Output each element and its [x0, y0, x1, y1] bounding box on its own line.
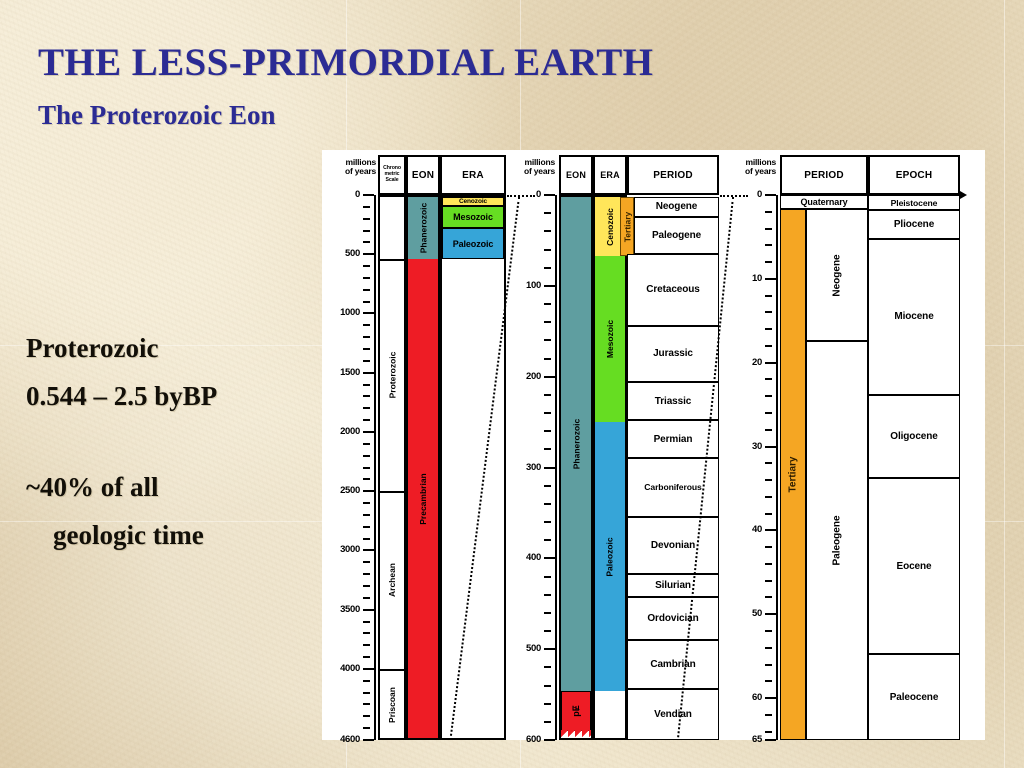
axis-tick-minor: [544, 394, 551, 396]
axis-tick-minor: [363, 384, 370, 386]
axis-tick-major: [363, 668, 374, 670]
axis-tick-minor: [765, 345, 772, 347]
axis-tick-minor: [544, 321, 551, 323]
axis-tick-minor: [765, 630, 772, 632]
axis-tick-major: [363, 431, 374, 433]
axis-tick-minor: [363, 692, 370, 694]
axis-tick-minor: [765, 546, 772, 548]
axis-tick-minor: [765, 412, 772, 414]
panel-3-axis-label: millionsof years: [718, 158, 776, 176]
axis-tick-label: 20: [716, 357, 762, 368]
axis-tick-minor: [544, 212, 551, 214]
period-paleogene-p3: Paleogene: [806, 341, 868, 740]
axis-tick-major: [363, 194, 374, 196]
axis-tick-minor: [765, 664, 772, 666]
axis-tick-minor: [544, 412, 551, 414]
axis-tick-label: 65: [716, 734, 762, 745]
axis-tick-minor: [544, 303, 551, 305]
axis-tick-minor: [544, 685, 551, 687]
axis-tick-major: [544, 467, 555, 469]
geologic-time-scale-chart: millionsof years ChronometricScale EON E…: [322, 150, 985, 740]
period-silurian: Silurian: [627, 574, 719, 598]
axis-tick-label: 500: [314, 248, 360, 259]
period-jurassic: Jurassic: [627, 326, 719, 382]
axis-tick-minor: [544, 448, 551, 450]
era-mesozoic-p1: Mesozoic: [442, 206, 504, 228]
axis-tick-minor: [765, 211, 772, 213]
axis-tick-label: 500: [495, 643, 541, 654]
axis-tick-minor: [363, 336, 370, 338]
axis-tick-major: [544, 739, 555, 741]
axis-tick-minor: [363, 561, 370, 563]
period-devonian: Devonian: [627, 517, 719, 574]
axis-tick-major: [765, 739, 776, 741]
guide-line-vertical: [1004, 0, 1005, 768]
axis-tick-minor: [544, 339, 551, 341]
axis-tick-minor: [363, 727, 370, 729]
epoch-pliocene: Pliocene: [868, 210, 960, 239]
eon-precambrian-flag-p2: pɆ: [561, 691, 591, 731]
axis-tick-label: 1500: [314, 367, 360, 378]
axis-tick-label: 0: [495, 189, 541, 200]
epoch-pleistocene: Pleistocene: [868, 195, 960, 210]
period-quaternary: Quaternary: [780, 195, 868, 209]
epoch-eocene: Eocene: [868, 478, 960, 655]
axis-tick-minor: [363, 715, 370, 717]
period-vendian: Vendian: [627, 689, 719, 740]
axis-tick-minor: [363, 680, 370, 682]
axis-tick-label: 0: [716, 189, 762, 200]
axis-tick-minor: [765, 513, 772, 515]
precambrian-flag-notch: [561, 730, 591, 737]
period-neogene: Neogene: [634, 197, 719, 217]
chronometric-proterozoic: Proterozoic: [378, 259, 406, 491]
axis-tick-minor: [363, 443, 370, 445]
zero-line-arrow: [960, 191, 967, 199]
axis-tick-major: [544, 648, 555, 650]
axis-tick-minor: [363, 621, 370, 623]
period-cretaceous: Cretaceous: [627, 254, 719, 326]
chronometric-divider: [378, 669, 406, 671]
axis-tick-label: 50: [716, 608, 762, 619]
axis-tick-minor: [765, 479, 772, 481]
eon-phanerozoic-p1: Phanerozoic: [408, 197, 438, 259]
axis-tick-label: 4000: [314, 663, 360, 674]
axis-tick-minor: [363, 597, 370, 599]
axis-tick-label: 0: [314, 189, 360, 200]
axis-tick-minor: [765, 295, 772, 297]
axis-tick-major: [544, 285, 555, 287]
panel-2-axis-line: [555, 195, 557, 740]
axis-tick-minor: [765, 580, 772, 582]
epoch-paleocene: Paleocene: [868, 654, 960, 740]
axis-tick-minor: [363, 538, 370, 540]
axis-tick-major: [765, 278, 776, 280]
axis-tick-major: [544, 194, 555, 196]
axis-tick-major: [765, 362, 776, 364]
axis-tick-minor: [363, 526, 370, 528]
panel-3-header-epoch: EPOCH: [868, 155, 960, 195]
axis-tick-minor: [544, 485, 551, 487]
axis-tick-major: [363, 372, 374, 374]
axis-tick-label: 4600: [314, 734, 360, 745]
axis-tick-major: [544, 376, 555, 378]
axis-tick-minor: [544, 703, 551, 705]
axis-tick-minor: [765, 596, 772, 598]
axis-tick-minor: [363, 573, 370, 575]
axis-tick-minor: [363, 265, 370, 267]
body-line-4: geologic time: [26, 520, 204, 551]
panel-2-header-period: PERIOD: [627, 155, 719, 195]
axis-tick-label: 3000: [314, 544, 360, 555]
eon-precambrian-p1: Precambrian: [408, 259, 438, 738]
axis-tick-minor: [363, 289, 370, 291]
axis-tick-label: 400: [495, 552, 541, 563]
axis-tick-label: 40: [716, 524, 762, 535]
axis-tick-major: [544, 557, 555, 559]
body-line-1: Proterozoic: [26, 333, 158, 364]
axis-tick-minor: [363, 348, 370, 350]
axis-tick-minor: [765, 261, 772, 263]
axis-tick-minor: [544, 666, 551, 668]
period-ordovician: Ordovician: [627, 597, 719, 640]
axis-tick-minor: [363, 644, 370, 646]
axis-tick-label: 60: [716, 692, 762, 703]
axis-tick-minor: [363, 218, 370, 220]
era-paleozoic-p2: Paleozoic: [595, 422, 625, 691]
epoch-oligocene: Oligocene: [868, 395, 960, 478]
chronometric-divider: [378, 491, 406, 493]
panel-2-header-eon: EON: [559, 155, 593, 195]
axis-tick-minor: [765, 680, 772, 682]
axis-tick-minor: [765, 311, 772, 313]
axis-tick-minor: [765, 328, 772, 330]
axis-tick-major: [765, 194, 776, 196]
axis-tick-minor: [363, 301, 370, 303]
axis-tick-minor: [363, 395, 370, 397]
axis-tick-minor: [765, 228, 772, 230]
axis-tick-minor: [765, 378, 772, 380]
eon-phanerozoic-p2: Phanerozoic: [561, 197, 591, 691]
axis-tick-minor: [363, 514, 370, 516]
period-neogene-p3: Neogene: [806, 209, 868, 341]
page-title: THE LESS-PRIMORDIAL EARTH: [38, 40, 653, 85]
axis-tick-minor: [544, 721, 551, 723]
axis-tick-label: 3500: [314, 604, 360, 615]
axis-tick-minor: [544, 503, 551, 505]
panel-1-axis-line: [374, 195, 376, 740]
panel-1-axis-label: millionsof years: [324, 158, 376, 176]
axis-tick-label: 600: [495, 734, 541, 745]
axis-tick-minor: [544, 267, 551, 269]
panel-1-header-chronometric: ChronometricScale: [378, 155, 406, 195]
axis-tick-minor: [544, 576, 551, 578]
panel-2-axis-label: millionsof years: [497, 158, 555, 176]
axis-tick-label: 2500: [314, 485, 360, 496]
chronometric-divider: [378, 259, 406, 261]
axis-tick-minor: [363, 407, 370, 409]
axis-tick-label: 300: [495, 462, 541, 473]
axis-tick-minor: [363, 324, 370, 326]
axis-tick-minor: [363, 419, 370, 421]
axis-tick-label: 100: [495, 280, 541, 291]
axis-tick-minor: [363, 277, 370, 279]
axis-tick-minor: [765, 244, 772, 246]
panel-2-header-era: ERA: [593, 155, 627, 195]
axis-tick-major: [765, 613, 776, 615]
period-cambrian: Cambrian: [627, 640, 719, 689]
axis-tick-minor: [765, 731, 772, 733]
axis-tick-major: [363, 609, 374, 611]
axis-tick-minor: [363, 206, 370, 208]
axis-tick-minor: [765, 429, 772, 431]
axis-tick-minor: [544, 521, 551, 523]
axis-tick-major: [765, 529, 776, 531]
axis-tick-minor: [544, 539, 551, 541]
panel-3-axis-line: [776, 195, 778, 740]
period-triassic: Triassic: [627, 382, 719, 420]
axis-tick-minor: [765, 647, 772, 649]
chronometric-priscoan: Priscoan: [378, 669, 406, 740]
epoch-miocene: Miocene: [868, 239, 960, 394]
axis-tick-label: 1000: [314, 307, 360, 318]
axis-tick-major: [363, 490, 374, 492]
axis-tick-minor: [363, 478, 370, 480]
axis-tick-major: [765, 446, 776, 448]
axis-tick-minor: [544, 612, 551, 614]
axis-tick-minor: [363, 656, 370, 658]
axis-tick-minor: [363, 632, 370, 634]
page-subtitle: The Proterozoic Eon: [38, 100, 275, 131]
era-paleozoic-p1: Paleozoic: [442, 228, 504, 259]
body-line-2: 0.544 – 2.5 byBP: [26, 381, 217, 412]
panel-3-header-period: PERIOD: [780, 155, 868, 195]
axis-tick-label: 200: [495, 371, 541, 382]
axis-tick-minor: [544, 630, 551, 632]
axis-tick-label: 10: [716, 273, 762, 284]
axis-tick-minor: [363, 230, 370, 232]
axis-tick-minor: [363, 585, 370, 587]
axis-tick-major: [363, 549, 374, 551]
axis-tick-minor: [765, 563, 772, 565]
axis-tick-minor: [765, 395, 772, 397]
axis-tick-minor: [544, 358, 551, 360]
axis-tick-minor: [363, 502, 370, 504]
axis-tick-minor: [544, 230, 551, 232]
axis-tick-minor: [765, 462, 772, 464]
axis-tick-label: 30: [716, 441, 762, 452]
axis-tick-minor: [363, 360, 370, 362]
axis-tick-minor: [363, 455, 370, 457]
axis-tick-minor: [765, 496, 772, 498]
axis-tick-label: 2000: [314, 426, 360, 437]
body-line-3: ~40% of all: [26, 472, 159, 503]
era-mesozoic-p2: Mesozoic: [595, 256, 625, 422]
axis-tick-minor: [544, 430, 551, 432]
axis-tick-major: [363, 312, 374, 314]
axis-tick-major: [363, 739, 374, 741]
axis-tick-minor: [363, 241, 370, 243]
panel-1-header-eon: EON: [406, 155, 440, 195]
period-paleogene: Paleogene: [634, 217, 719, 254]
axis-tick-minor: [544, 249, 551, 251]
axis-tick-minor: [363, 467, 370, 469]
axis-tick-major: [363, 253, 374, 255]
subera-tertiary-p2: Tertiary: [620, 197, 634, 256]
axis-tick-minor: [363, 703, 370, 705]
axis-tick-minor: [765, 714, 772, 716]
period-tertiary-p3: Tertiary: [780, 209, 806, 740]
chronometric-archean: Archean: [378, 491, 406, 669]
axis-tick-minor: [544, 594, 551, 596]
axis-tick-major: [765, 697, 776, 699]
